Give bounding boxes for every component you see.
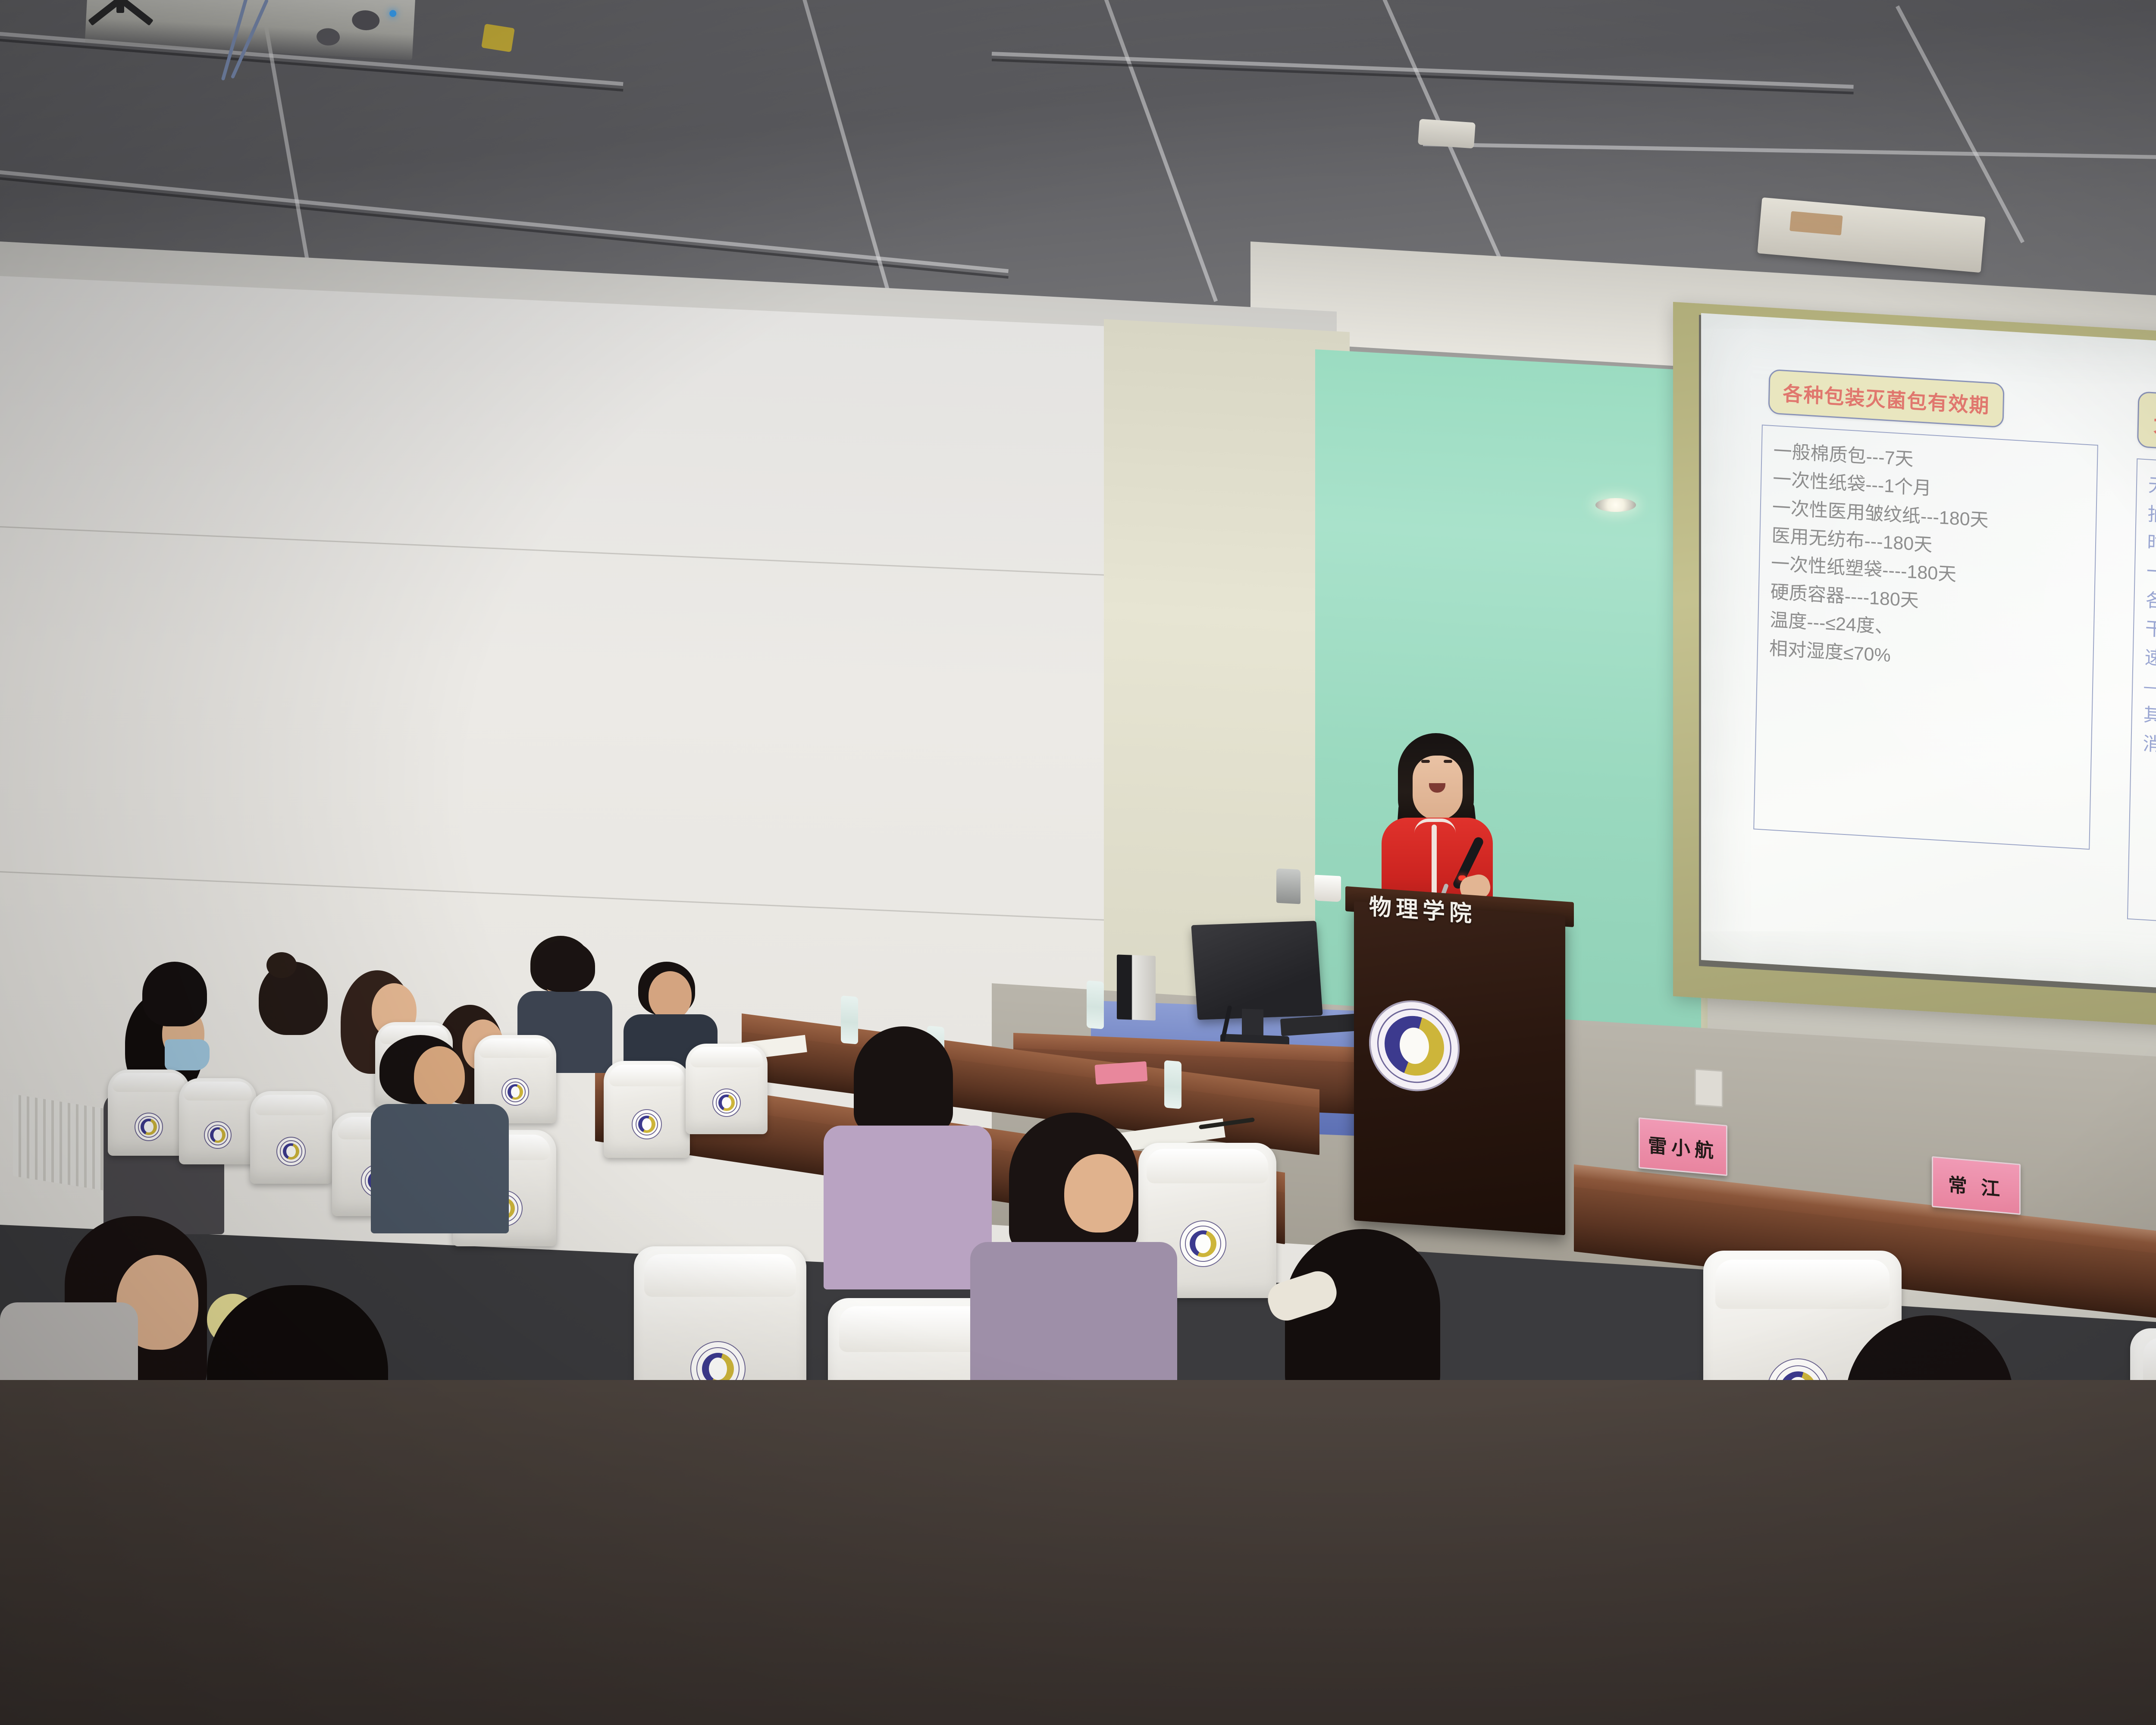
chair-emblem [501, 1078, 529, 1106]
person-hair [142, 962, 207, 1026]
pink-folder [1095, 1061, 1148, 1085]
chair-emblem [632, 1109, 662, 1139]
projector-mount [65, 0, 168, 34]
wall-outlet[interactable] [1695, 1069, 1723, 1108]
projector-connector [481, 24, 515, 52]
person-head [1064, 1154, 1133, 1233]
person-torso [824, 1126, 992, 1289]
chair-emblem [135, 1113, 163, 1141]
podium-emblem [1369, 997, 1460, 1095]
slide-right-title: 无菌物品打开后使用时间 [2137, 391, 2156, 466]
desktop-tower [1117, 954, 1156, 1020]
presentation-slide: 各种包装灭菌包有效期 一般棉质包---7天 一次性纸袋---1个月 一次性医用皱… [1751, 369, 2156, 977]
presenter-eye [1444, 760, 1452, 763]
water-bottle [1164, 1060, 1181, 1109]
person-head [414, 1046, 465, 1107]
name-placard-text: 雷小航 [1648, 1130, 1718, 1164]
person-hair [1285, 1229, 1440, 1402]
name-placard: 常 江 [1932, 1156, 2021, 1215]
slide-column-right: 无菌物品打开后使用时间 无菌物品——24小时（提倡使用小包装） 抽出的药液、开启… [2127, 391, 2156, 944]
person-torso [371, 1104, 509, 1233]
paper-cup [1314, 875, 1341, 902]
thermos [1276, 869, 1300, 904]
projector-lens [351, 9, 380, 31]
lecture-hall-photo: 各种包装灭菌包有效期 一般棉质包---7天 一次性纸袋---1个月 一次性医用皱… [0, 0, 2156, 1725]
name-placard-text: 常 江 [1948, 1169, 2004, 1201]
slide-column-left: 各种包装灭菌包有效期 一般棉质包---7天 一次性纸袋---1个月 一次性医用皱… [1753, 369, 2099, 850]
projector-lens-secondary [316, 28, 340, 46]
chair-emblem [276, 1137, 306, 1166]
person-hair [535, 940, 595, 992]
name-placard: 雷小航 [1639, 1117, 1727, 1176]
slide-right-list: 无菌物品——24小时（提倡使用小包装） 抽出的药液、开启的静脉用无菌液体——2小… [2127, 458, 2156, 944]
chair-emblem [1180, 1220, 1226, 1267]
person-hair [854, 1026, 953, 1134]
ceiling-speaker [1418, 119, 1476, 149]
water-bottle [1087, 980, 1104, 1029]
chair-emblem [204, 1121, 232, 1149]
hair-bun [266, 952, 297, 978]
person-head [649, 971, 692, 1019]
presenter [1371, 733, 1501, 914]
floor [0, 1380, 2156, 1725]
wall-downlight [1595, 498, 1636, 512]
slide-right-line: 消毒湿巾——30天 [2143, 730, 2156, 781]
projector-power-led [389, 10, 397, 17]
slide-left-title: 各种包装灭菌包有效期 [1768, 369, 2004, 428]
water-bottle [841, 995, 858, 1044]
face-mask [165, 1039, 210, 1070]
slide-left-list: 一般棉质包---7天 一次性纸袋---1个月 一次性医用皱纹纸---180天 医… [1753, 424, 2098, 850]
presenter-eye [1421, 760, 1430, 763]
chair-emblem [712, 1088, 741, 1117]
projection-screen[interactable]: 各种包装灭菌包有效期 一般棉质包---7天 一次性纸袋---1个月 一次性医用皱… [1701, 313, 2156, 1013]
desktop-monitor[interactable] [1191, 921, 1322, 1020]
